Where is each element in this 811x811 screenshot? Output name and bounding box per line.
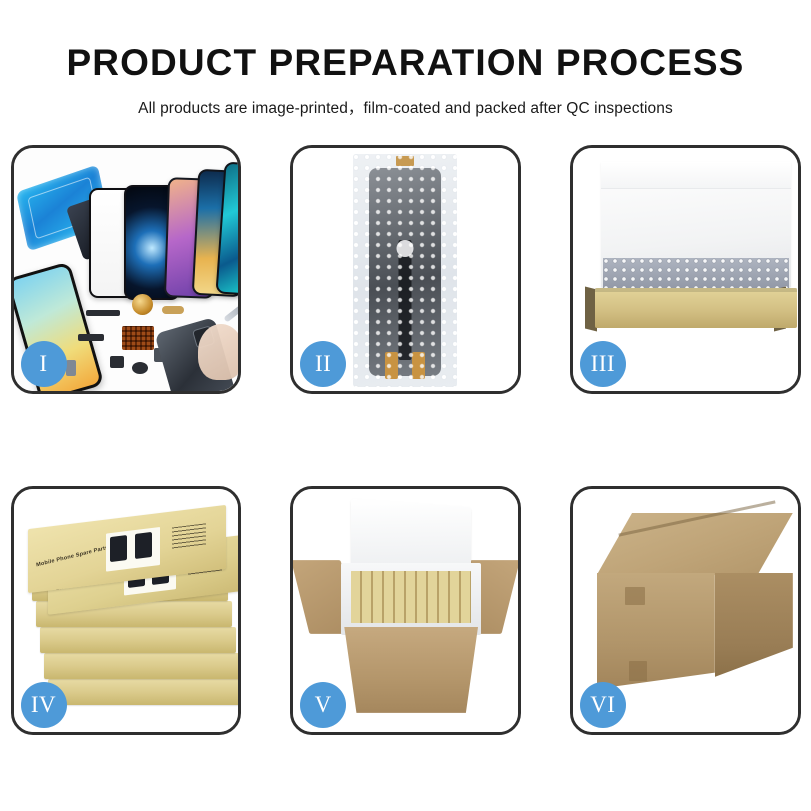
process-step-card-5[interactable]: V [290, 486, 521, 735]
step-badge-6: VI [580, 682, 626, 728]
carton-body-icon [335, 627, 487, 713]
bubble-texture-overlay [353, 154, 457, 387]
process-step-card-4[interactable]: Mobile Phone Spare Parts Mobile Phone Sp… [11, 486, 242, 735]
label-spec-lines-1 [172, 523, 206, 549]
step-badge-2: II [300, 341, 346, 387]
sim-tray-icon [66, 360, 76, 376]
component-bar-icon [86, 310, 120, 316]
gold-box-tray-icon [595, 288, 797, 328]
chip-icon [110, 356, 124, 368]
packed-gold-boxes-icon [351, 571, 471, 623]
flex-strip-icon [78, 334, 104, 341]
connector-grid-icon [122, 326, 154, 350]
process-step-card-1[interactable]: I [11, 145, 242, 394]
carton-tape-lower-icon [629, 661, 647, 681]
screwdriver-icon [223, 299, 238, 322]
screen-thumb-1b [135, 532, 152, 559]
gold-box-3 [40, 627, 236, 653]
carton-front-face-icon [597, 573, 715, 689]
gold-box-5 [48, 679, 239, 705]
page-title: PRODUCT PREPARATION PROCESS [0, 44, 811, 83]
process-step-grid: I II [11, 145, 801, 735]
speaker-icon [132, 362, 148, 374]
box-label-text-1: Mobile Phone Spare Parts [35, 545, 108, 569]
step-badge-4: IV [21, 682, 67, 728]
step-badge-3: III [580, 341, 626, 387]
gold-box-4 [44, 653, 239, 679]
screen-thumb-1a [110, 535, 127, 562]
header: PRODUCT PREPARATION PROCESS All products… [0, 0, 811, 118]
copper-coil-icon [132, 294, 153, 315]
step-badge-5: V [300, 682, 346, 728]
product-preparation-infographic: PRODUCT PREPARATION PROCESS All products… [0, 0, 811, 811]
page-subtitle: All products are image-printed，film-coat… [0, 96, 811, 118]
carton-top-face-icon [597, 513, 793, 575]
hand-icon [198, 324, 238, 380]
step-badge-1: I [21, 341, 67, 387]
process-step-card-6[interactable]: VI [570, 486, 801, 735]
carton-tape-upper-icon [625, 587, 645, 605]
process-step-card-2[interactable]: II [290, 145, 521, 394]
flex-cable-icon [162, 306, 184, 314]
bubble-wrap-bag-icon [353, 154, 457, 387]
process-step-card-3[interactable]: III [570, 145, 801, 394]
carton-side-face-icon [715, 573, 793, 677]
